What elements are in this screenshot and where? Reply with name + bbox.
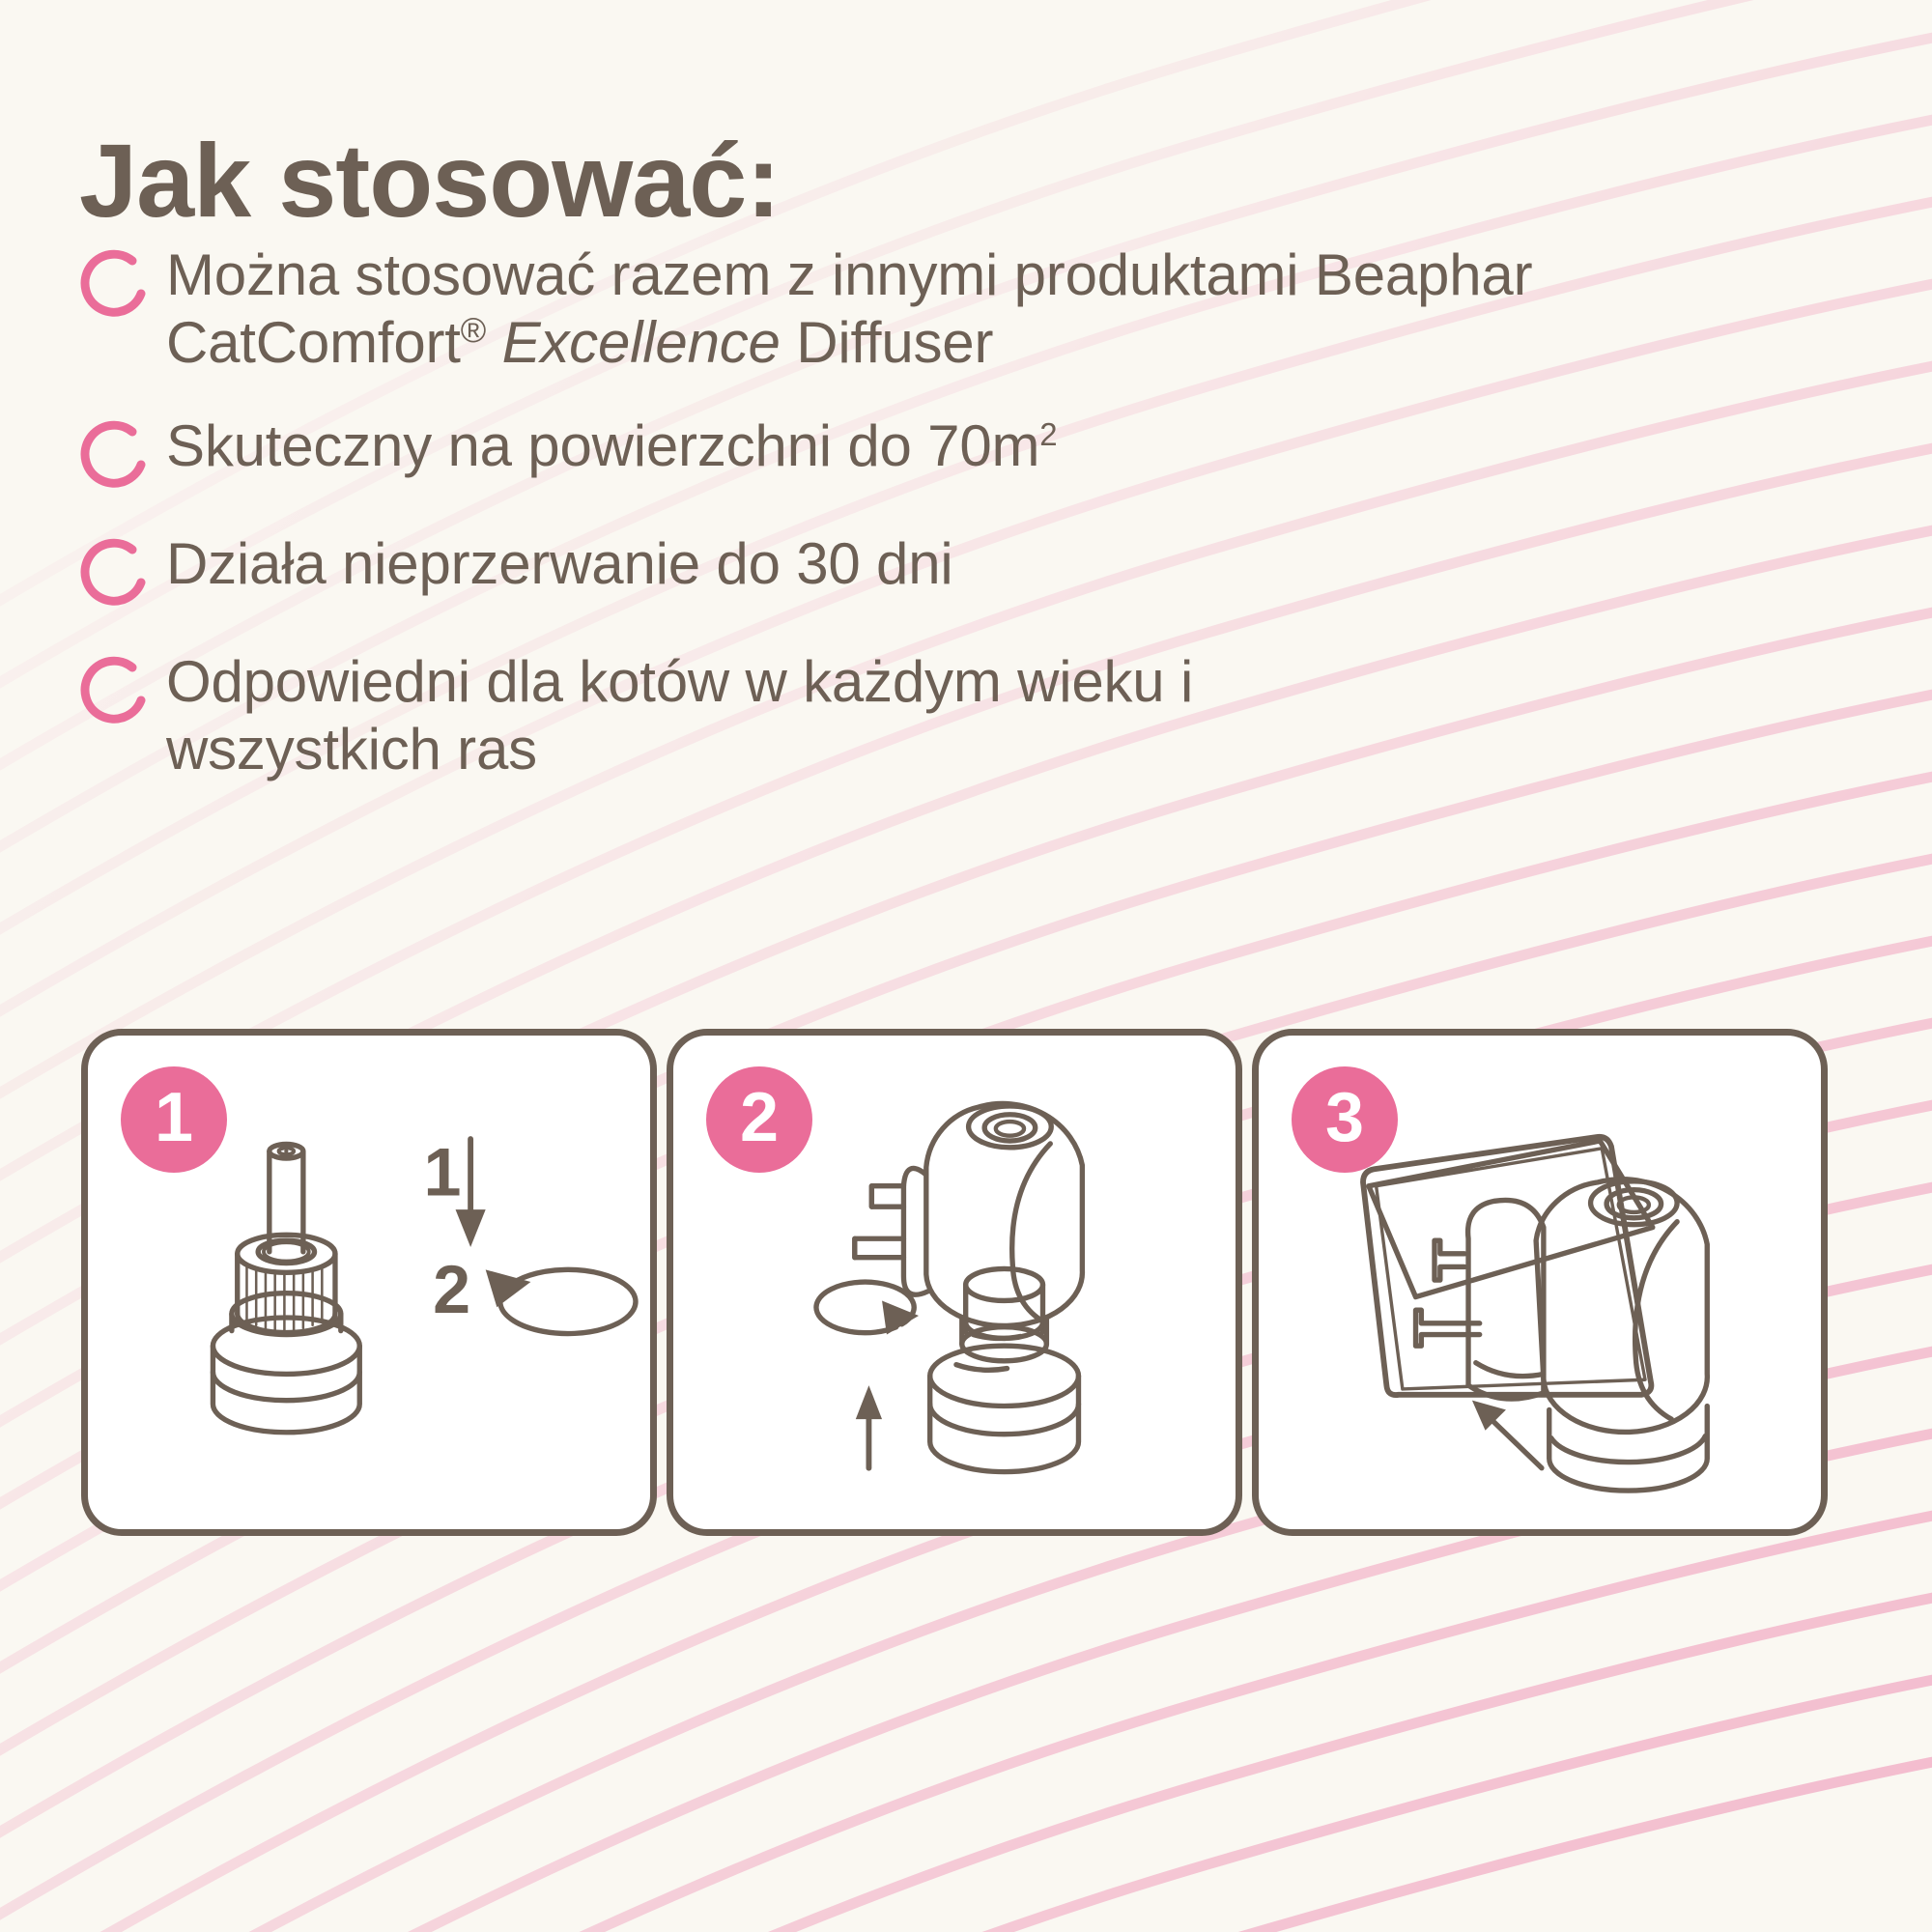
list-item: Działa nieprzerwanie do 30 dni <box>77 526 1816 611</box>
bullet-1-text-b: Diffuser <box>781 310 994 375</box>
list-item-label: Można stosować razem z innymi produktami… <box>166 238 1816 376</box>
usage-steps: 1 2 <box>81 1029 1828 1536</box>
open-circle-bullet-icon <box>77 416 155 494</box>
list-item: Skuteczny na powierzchni do 70m2 <box>77 409 1816 494</box>
step1-annotation-2-label: 2 <box>433 1252 470 1327</box>
page-title: Jak stosować: <box>79 126 780 235</box>
superscript-two: 2 <box>1039 416 1057 452</box>
step-card-2: 2 <box>667 1029 1242 1536</box>
open-circle-bullet-icon <box>77 652 155 729</box>
feature-bullet-list: Można stosować razem z innymi produktami… <box>77 238 1816 782</box>
registered-trademark-symbol: ® <box>461 310 486 350</box>
rotate-arrow-icon <box>486 1269 636 1333</box>
bullet-1-italic: Excellence <box>502 310 781 375</box>
poster-canvas: Jak stosować: Można stosować razem z inn… <box>0 0 1932 1932</box>
list-item-label: Skuteczny na powierzchni do 70m2 <box>166 409 1057 480</box>
rotate-arrow-icon <box>816 1282 919 1334</box>
list-item: Odpowiedni dla kotów w każdym wieku i ws… <box>77 644 1816 782</box>
list-item: Można stosować razem z innymi produktami… <box>77 238 1816 376</box>
step-card-1: 1 2 <box>81 1029 657 1536</box>
bullet-2-text: Skuteczny na powierzchni do 70m <box>166 413 1039 478</box>
step-card-3: 3 <box>1252 1029 1828 1536</box>
step-badge-2: 2 <box>706 1066 812 1173</box>
arrow-pointing-to-socket-icon <box>1472 1401 1542 1468</box>
arrow-up-icon <box>856 1385 882 1468</box>
step-badge-3: 3 <box>1292 1066 1398 1173</box>
bullet-1-space <box>486 310 501 375</box>
list-item-label: Odpowiedni dla kotów w każdym wieku i ws… <box>166 644 1393 782</box>
open-circle-bullet-icon <box>77 534 155 611</box>
step-badge-1: 1 <box>121 1066 227 1173</box>
step1-annotation-1-label: 1 <box>423 1134 461 1209</box>
open-circle-bullet-icon <box>77 245 155 323</box>
list-item-label: Działa nieprzerwanie do 30 dni <box>166 526 953 598</box>
